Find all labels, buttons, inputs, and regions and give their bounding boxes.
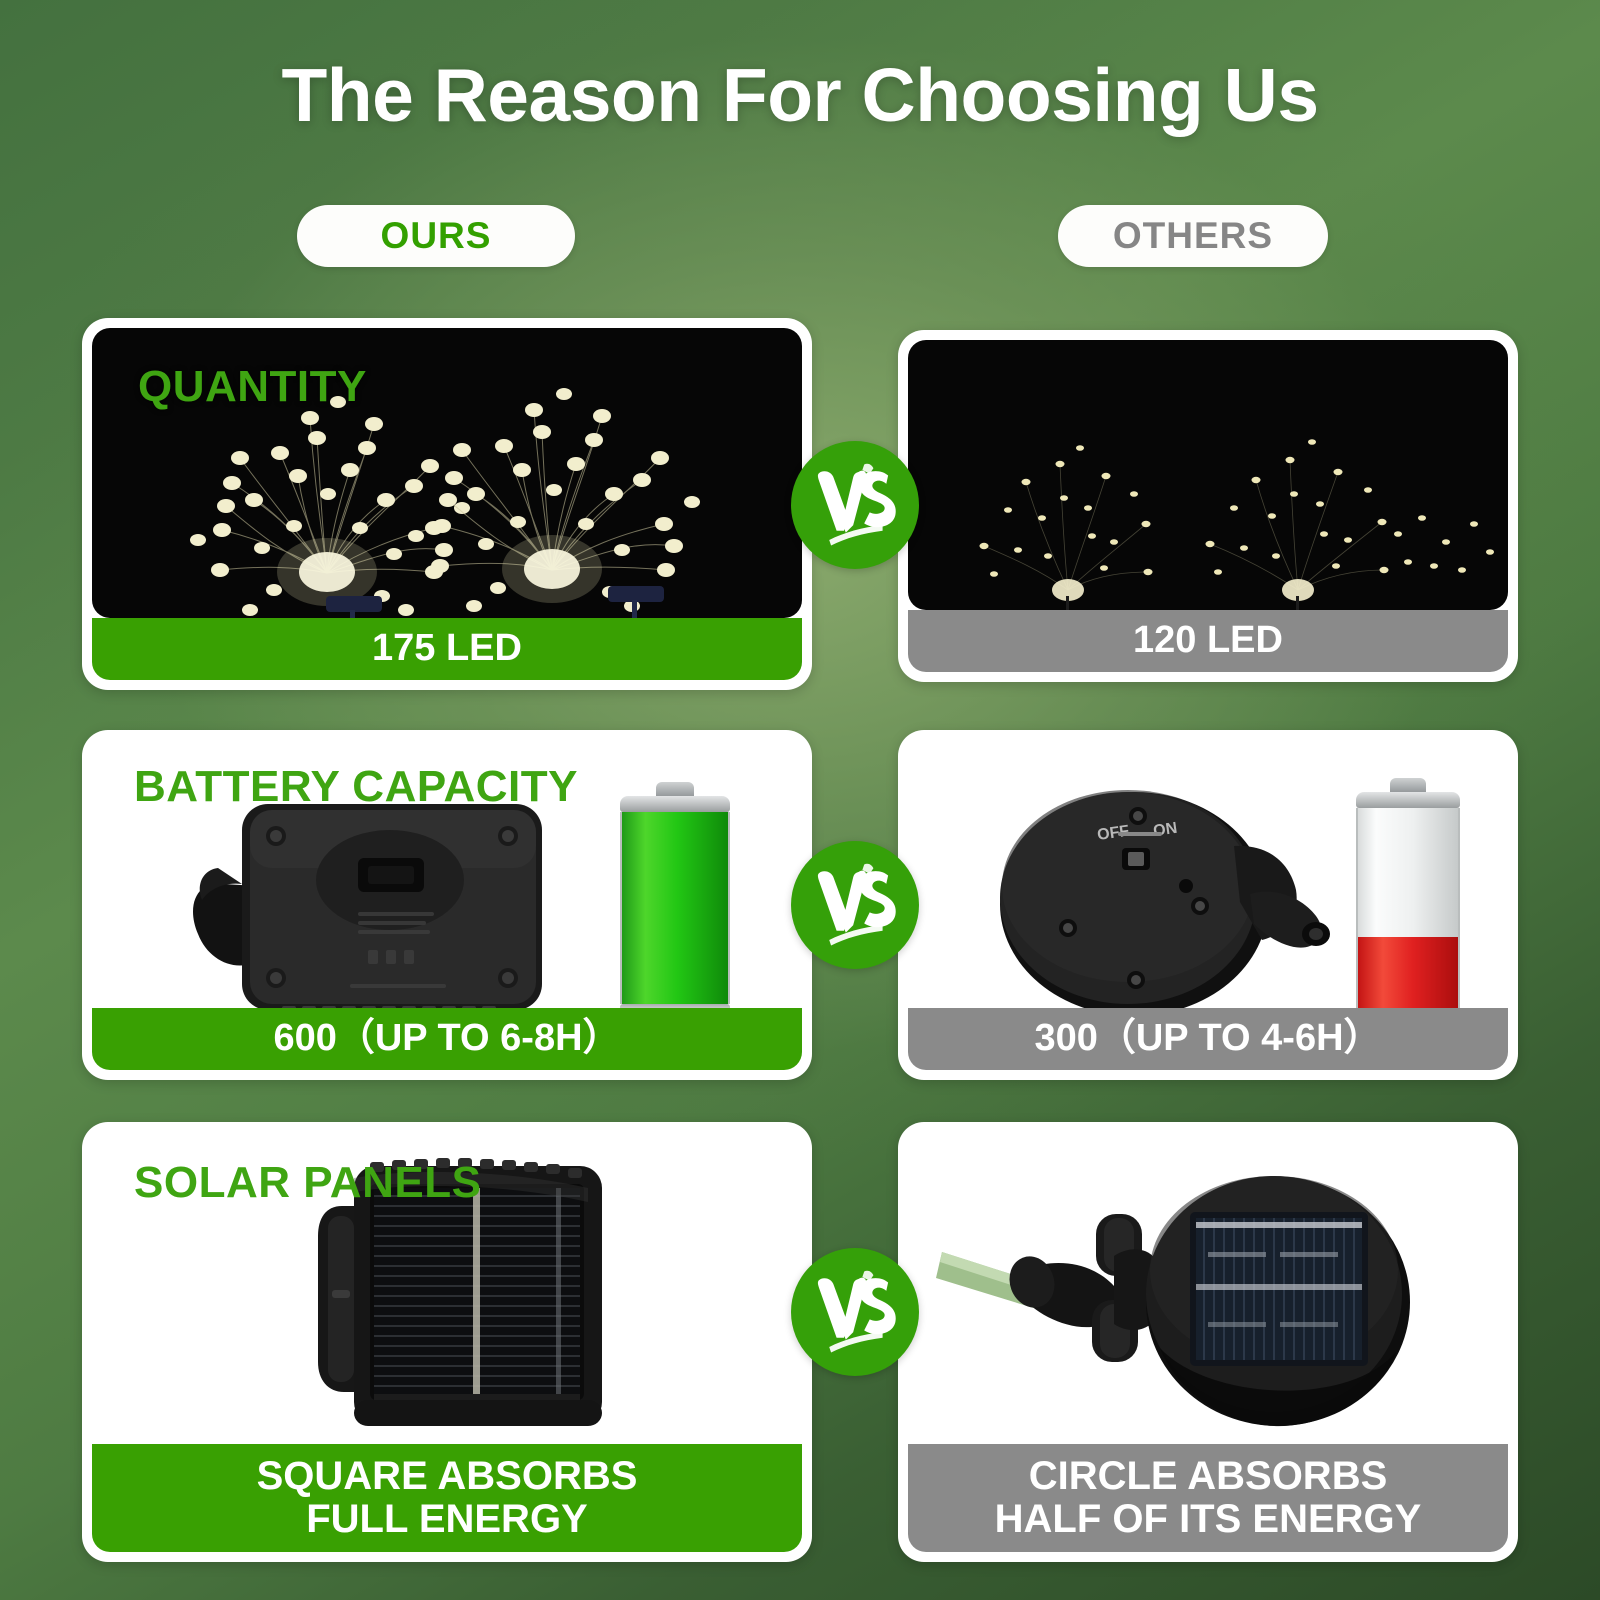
card-others-battery: OFF ON 300（UP TO 4-6H (898, 730, 1518, 1080)
vs-badge-row2 (791, 841, 919, 969)
led-sparks-extra (1378, 490, 1508, 600)
column-header-others-label: OTHERS (1113, 215, 1273, 257)
card-footer-ours-solar-line2: FULL ENERGY (257, 1498, 638, 1541)
led-stakes (312, 578, 732, 618)
column-header-ours-label: OURS (381, 215, 492, 257)
card-footer-others-quantity: 120 LED (908, 610, 1508, 672)
card-ours-quantity: QUANTITY (82, 318, 812, 690)
card-media-ours-battery: BATTERY CAPACITY (92, 740, 802, 1008)
battery-housing-square (172, 788, 582, 1008)
battery-shoulder (620, 796, 730, 812)
battery-foot (620, 1004, 730, 1008)
column-header-ours: OURS (297, 205, 575, 267)
card-caption-quantity: QUANTITY (138, 362, 367, 412)
card-footer-others-solar: CIRCLE ABSORBS HALF OF ITS ENERGY (908, 1444, 1508, 1552)
battery-indicator-low (1356, 778, 1460, 1008)
card-media-others-solar (908, 1132, 1508, 1444)
page-title: The Reason For Choosing Us (0, 52, 1600, 138)
card-media-others-battery: OFF ON (908, 740, 1508, 1008)
vs-icon (809, 859, 901, 951)
card-ours-solar: SOLAR PANELS (82, 1122, 812, 1562)
card-media-ours-quantity: QUANTITY (92, 328, 802, 618)
card-footer-others-battery: 300（UP TO 4-6H） (908, 1008, 1508, 1070)
battery-housing-round: OFF ON (978, 782, 1348, 1008)
card-footer-ours-battery: 600（UP TO 6-8H） (92, 1008, 802, 1070)
card-footer-ours-solar: SQUARE ABSORBS FULL ENERGY (92, 1444, 802, 1552)
card-footer-others-solar-line2: HALF OF ITS ENERGY (995, 1498, 1422, 1541)
card-others-solar: CIRCLE ABSORBS HALF OF ITS ENERGY (898, 1122, 1518, 1562)
vs-badge-row1 (791, 441, 919, 569)
card-media-ours-solar: SOLAR PANELS (92, 1132, 802, 1444)
vs-icon (809, 459, 901, 551)
battery-fill-red (1358, 937, 1458, 1008)
battery-shoulder (1356, 792, 1460, 808)
battery-indicator-full (620, 782, 730, 1008)
battery-fill-green (622, 812, 728, 1004)
battery-body (620, 812, 730, 1004)
card-caption-solar-panels: SOLAR PANELS (134, 1158, 481, 1208)
card-footer-ours-quantity: 175 LED (92, 618, 802, 680)
svg-text:ON: ON (1152, 820, 1178, 840)
vs-icon (809, 1266, 901, 1358)
card-media-others-quantity (908, 340, 1508, 610)
card-footer-ours-solar-line1: SQUARE ABSORBS (257, 1455, 638, 1498)
card-ours-battery: BATTERY CAPACITY (82, 730, 812, 1080)
solar-panel-round (928, 1152, 1488, 1444)
vs-badge-row3 (791, 1248, 919, 1376)
comparison-infographic: The Reason For Choosing Us OURS OTHERS Q… (0, 0, 1600, 1600)
card-footer-others-solar-line1: CIRCLE ABSORBS (995, 1455, 1422, 1498)
led-burst-sparse-left (948, 390, 1198, 610)
battery-body (1356, 808, 1460, 1008)
card-others-quantity: 120 LED (898, 330, 1518, 682)
column-header-others: OTHERS (1058, 205, 1328, 267)
card-caption-battery-capacity: BATTERY CAPACITY (134, 762, 578, 812)
